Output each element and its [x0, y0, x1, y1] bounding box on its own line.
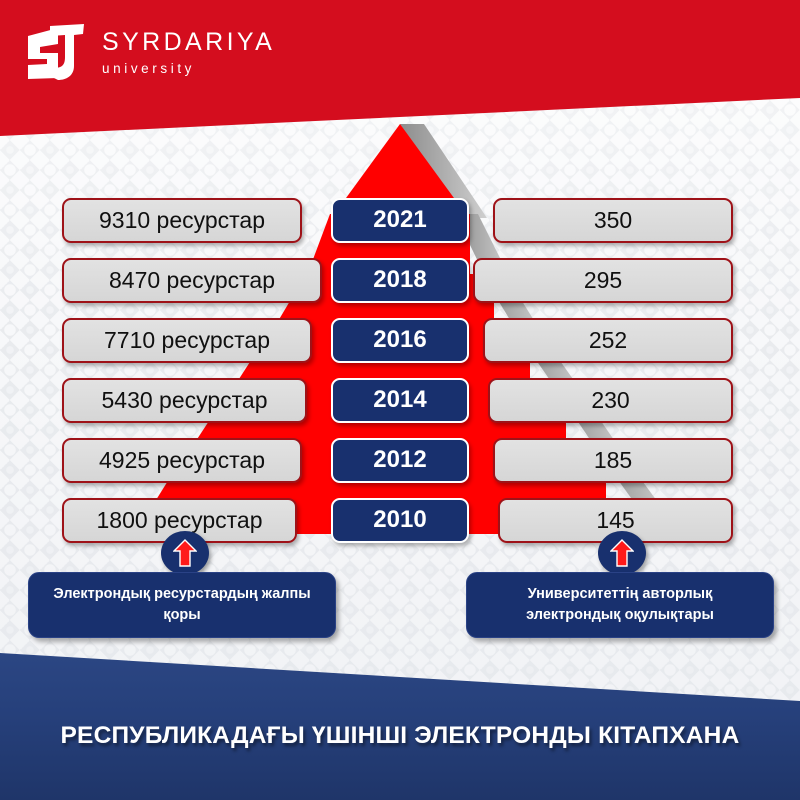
- banner-title: РЕСПУБЛИКАДАҒЫ ҮШІНШІ ЭЛЕКТРОНДЫ КІТАПХА…: [0, 722, 800, 750]
- table-row: 7710 ресурстар 2016 252: [0, 310, 800, 370]
- year-cell: 2012: [331, 438, 469, 483]
- year-cell: 2018: [331, 258, 469, 303]
- logo-title: SYRDARIYA: [102, 30, 275, 55]
- resource-total-cell: 8470 ресурстар: [62, 258, 322, 303]
- right-legend-badge: [598, 531, 646, 575]
- textbook-count-cell: 252: [483, 318, 733, 363]
- textbook-count-cell: 185: [493, 438, 733, 483]
- legend-right: Университеттің авторлық электрондық оқул…: [466, 572, 774, 638]
- data-rows: 9310 ресурстар 2021 350 8470 ресурстар 2…: [0, 190, 800, 550]
- arrow-up-icon: [610, 539, 634, 567]
- table-row: 9310 ресурстар 2021 350: [0, 190, 800, 250]
- year-cell: 2014: [331, 378, 469, 423]
- resource-total-cell: 5430 ресурстар: [62, 378, 307, 423]
- textbook-count-cell: 230: [488, 378, 733, 423]
- resource-total-cell: 7710 ресурстар: [62, 318, 312, 363]
- legend-right-label: Университеттің авторлық электрондық оқул…: [481, 584, 759, 626]
- arrow-up-icon: [173, 539, 197, 567]
- year-cell: 2021: [331, 198, 469, 243]
- su-monogram-icon: [24, 22, 88, 84]
- textbook-count-cell: 295: [473, 258, 733, 303]
- infographic-poster: SYRDARIYA university 9310 ресурстар 2021…: [0, 0, 800, 800]
- left-legend-badge: [161, 531, 209, 575]
- brand-logo[interactable]: SYRDARIYA university: [24, 22, 275, 84]
- resource-total-cell: 4925 ресурстар: [62, 438, 302, 483]
- legend-left: Электрондық ресурстардың жалпы қоры: [28, 572, 336, 638]
- table-row: 5430 ресурстар 2014 230: [0, 370, 800, 430]
- year-cell: 2010: [331, 498, 469, 543]
- table-row: 1800 ресурстар 2010 145: [0, 490, 800, 550]
- resource-total-cell: 9310 ресурстар: [62, 198, 302, 243]
- legend-left-label: Электрондық ресурстардың жалпы қоры: [43, 584, 321, 626]
- logo-subtitle: university: [102, 62, 275, 76]
- textbook-count-cell: 350: [493, 198, 733, 243]
- table-row: 4925 ресурстар 2012 185: [0, 430, 800, 490]
- year-cell: 2016: [331, 318, 469, 363]
- table-row: 8470 ресурстар 2018 295: [0, 250, 800, 310]
